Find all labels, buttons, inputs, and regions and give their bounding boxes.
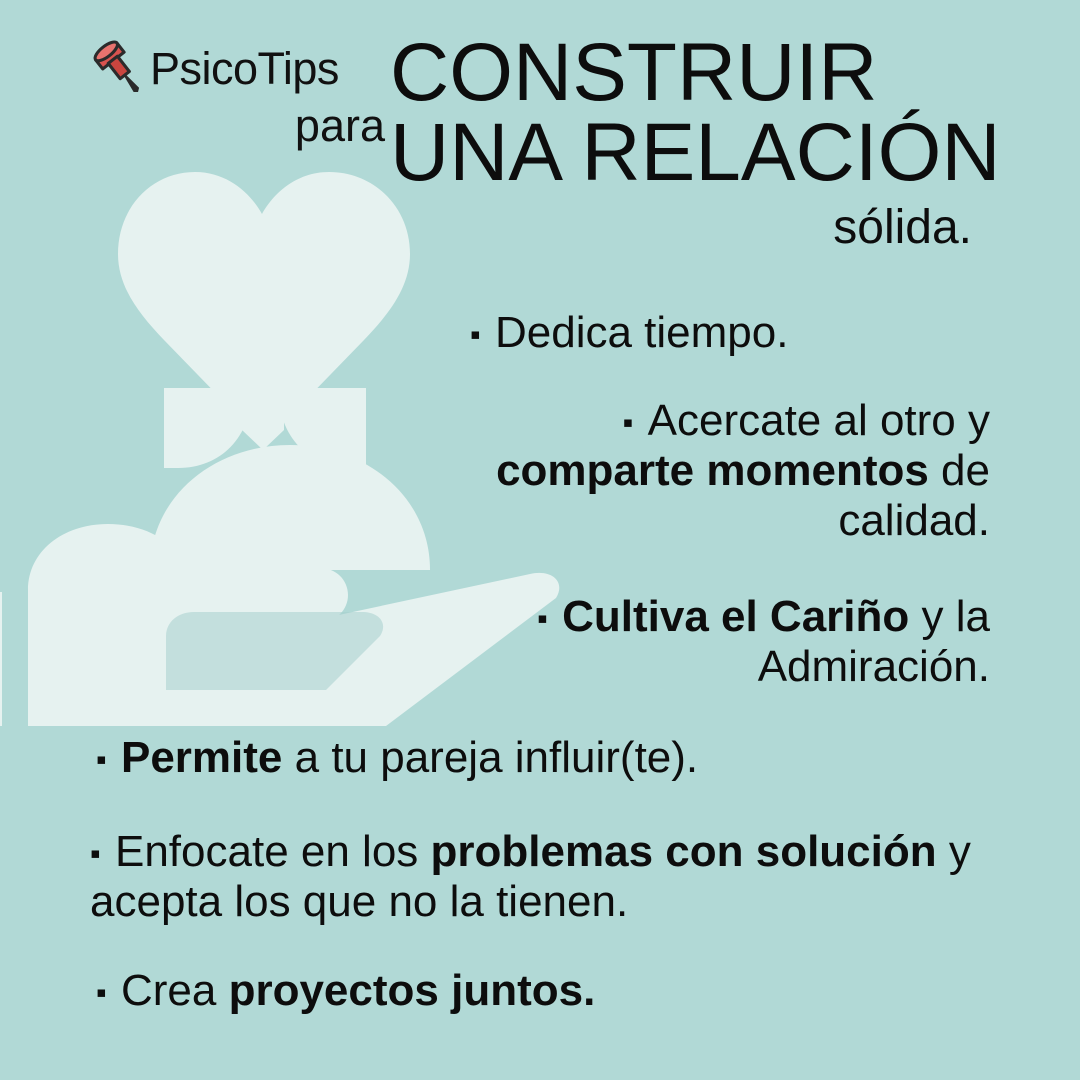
tip-bullet-icon: ▪ <box>470 318 495 351</box>
tip-text-segment: Permite <box>121 733 295 782</box>
tip-bullet-icon: ▪ <box>96 743 121 776</box>
tip-text-segment: problemas con solución <box>431 827 949 876</box>
tip-text-segment: a tu pareja influir(te). <box>295 733 699 782</box>
tip-crea-proyectos-juntos: ▪ Crea proyectos juntos. <box>96 966 996 1016</box>
tip-permite-influir: ▪ Permite a tu pareja influir(te). <box>96 733 996 783</box>
tip-bullet-icon: ▪ <box>90 837 115 870</box>
infographic-poster: PsicoTips para CONSTRUIR UNA RELACIÓN só… <box>0 0 1080 1080</box>
tip-text-segment: proyectos juntos. <box>229 966 596 1015</box>
tip-text-segment: comparte momentos <box>496 446 941 495</box>
tip-dedica-tiempo: ▪ Dedica tiempo. <box>470 308 1000 358</box>
tip-text-segment: Crea <box>121 966 229 1015</box>
tips-list: ▪ Dedica tiempo. ▪ Acercate al otro y co… <box>0 0 1080 1080</box>
tip-bullet-icon: ▪ <box>623 406 648 439</box>
tip-text-segment: Enfocate en los <box>115 827 431 876</box>
tip-bullet-icon: ▪ <box>537 602 562 635</box>
tip-enfocate-problemas-con-solucion: ▪ Enfocate en los problemas con solución… <box>90 827 1060 927</box>
tip-acercate-al-otro: ▪ Acercate al otro y comparte momentos d… <box>470 396 990 546</box>
tip-text-segment: Acercate al otro y <box>648 396 990 445</box>
tip-text-segment: Dedica tiempo. <box>495 308 788 357</box>
tip-text-segment: Cultiva el Cariño <box>562 592 921 641</box>
tip-bullet-icon: ▪ <box>96 976 121 1009</box>
tip-cultiva-el-carino: ▪ Cultiva el Cariño y la Admiración. <box>470 592 990 692</box>
